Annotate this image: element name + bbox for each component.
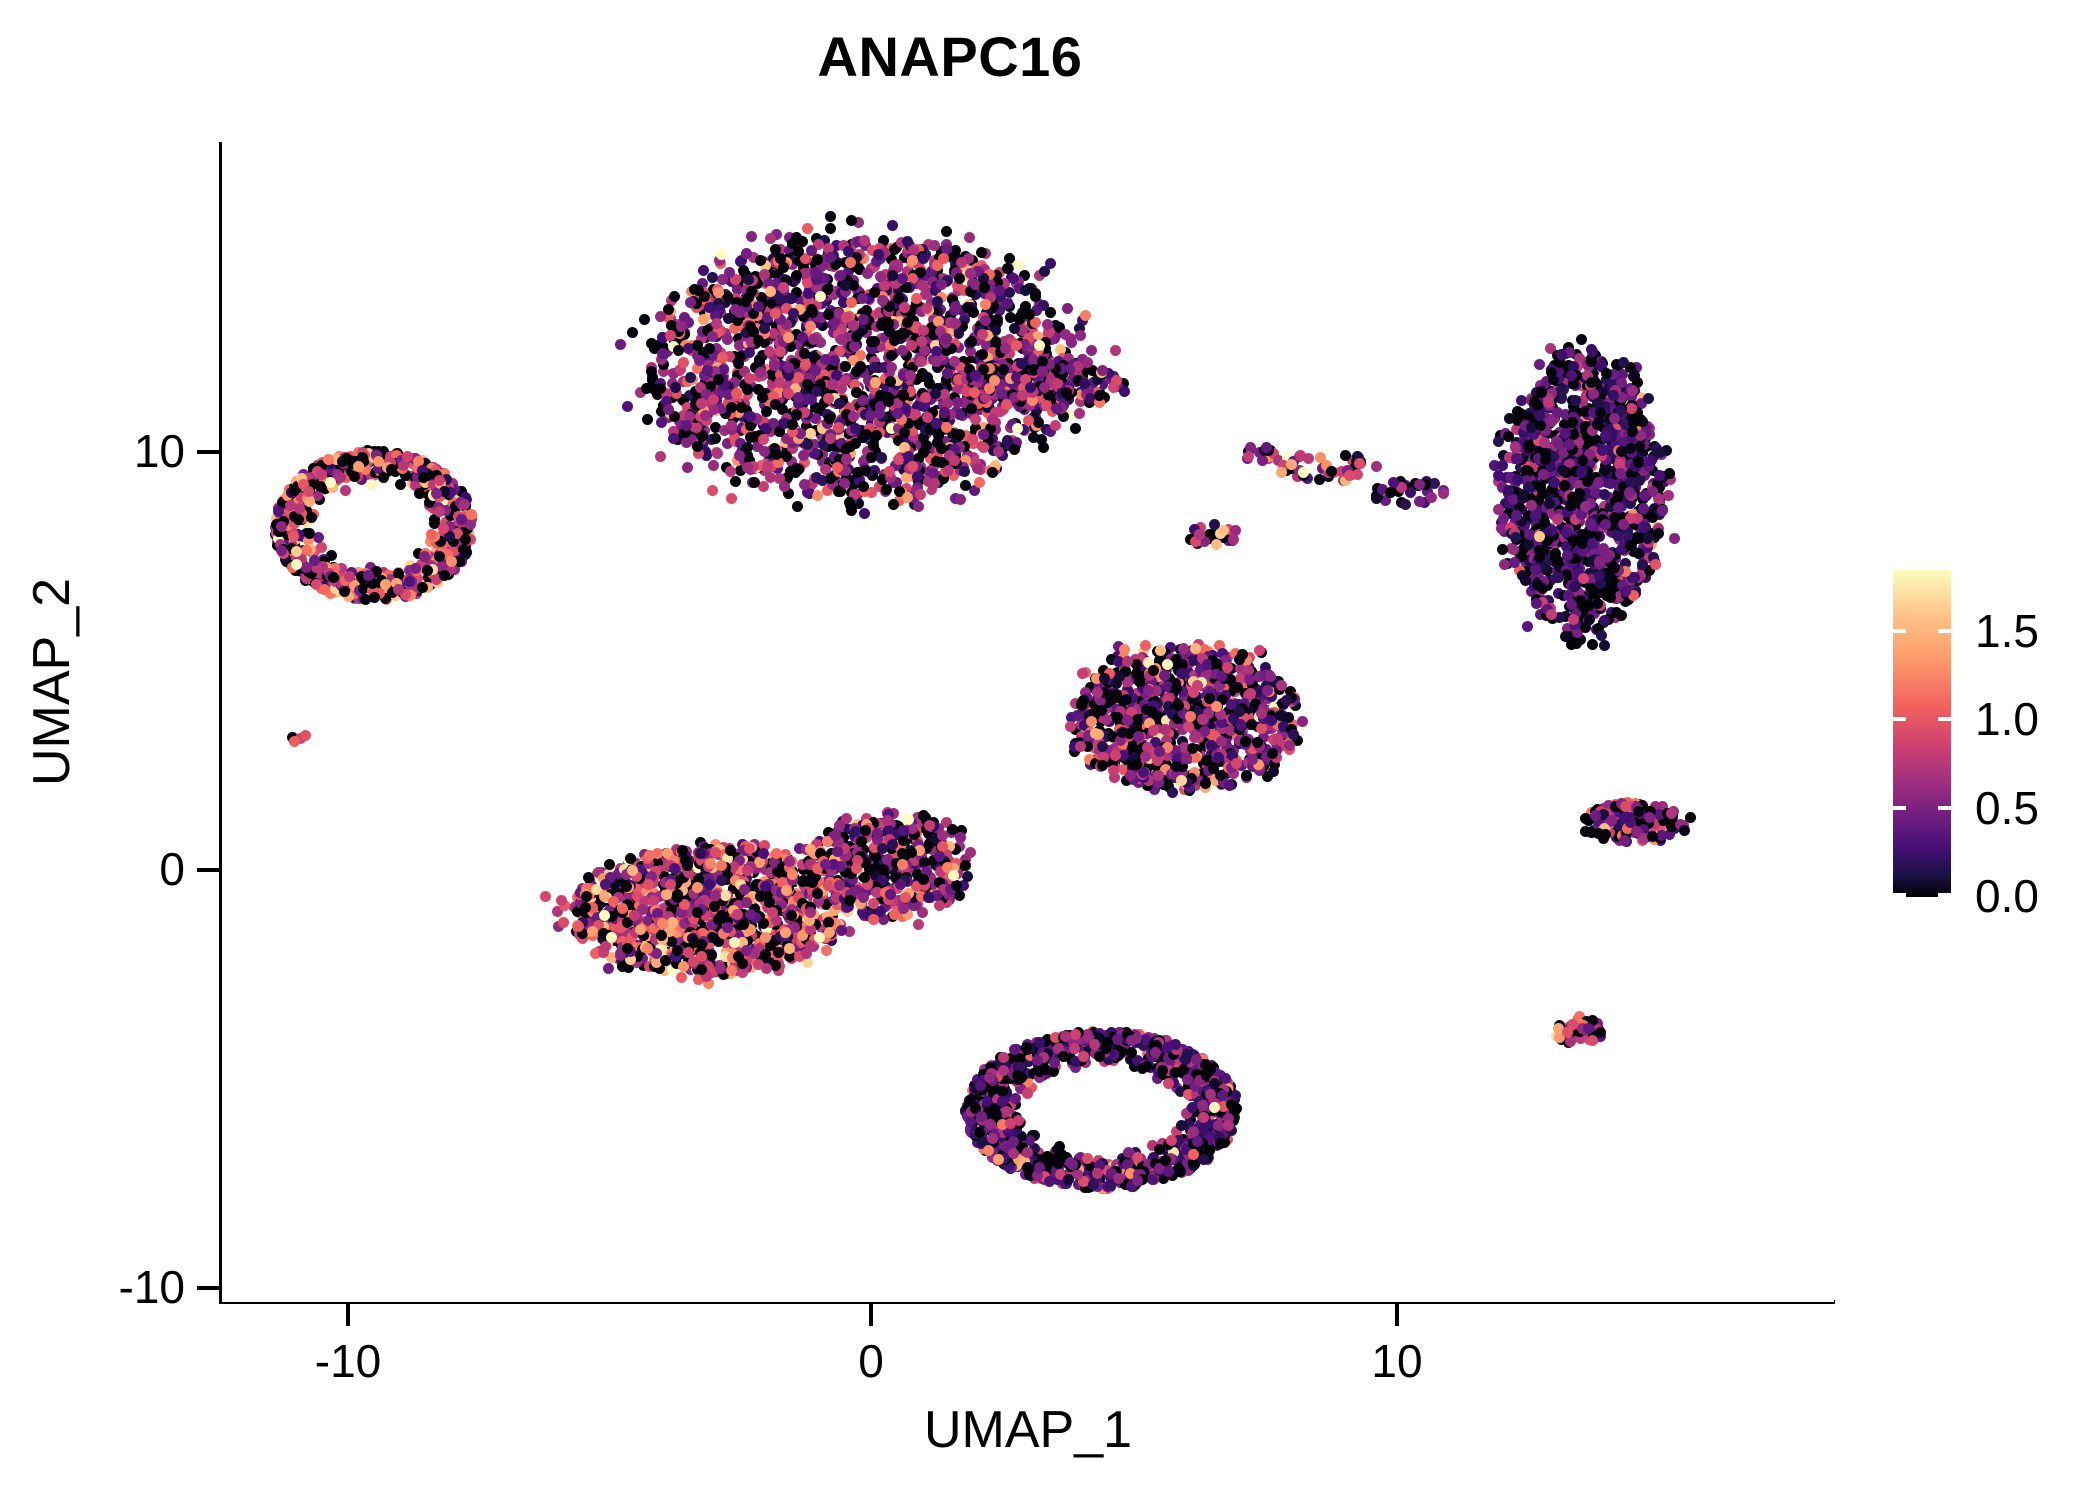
scatter-point [808,334,819,345]
scatter-point [802,379,813,390]
scatter-point [1618,357,1629,368]
scatter-point [889,335,900,346]
scatter-point [749,477,760,488]
scatter-point [1620,586,1631,597]
scatter-point [1497,544,1508,555]
scatter-point [742,384,753,395]
scatter-point [743,292,754,303]
scatter-point [868,440,879,451]
scatter-point [1523,440,1534,451]
scatter-point [1510,442,1521,453]
scatter-point [1140,640,1151,651]
scatter-point [848,411,859,422]
scatter-point [694,355,705,366]
scatter-point [966,336,977,347]
scatter-point [1503,485,1514,496]
scatter-point [970,414,981,425]
scatter-point [360,594,371,605]
scatter-point [859,508,870,519]
scatter-point [1599,615,1610,626]
scatter-point [1669,533,1680,544]
scatter-point [810,365,821,376]
scatter-point [1597,445,1608,456]
scatter-point [366,479,377,490]
scatter-point [987,467,998,478]
scatter-point [1546,609,1557,620]
scatter-point [1534,410,1545,421]
scatter-point [967,434,978,445]
scatter-point [836,334,847,345]
scatter-point [832,462,843,473]
scatter-point [1536,387,1547,398]
scatter-point [1601,368,1612,379]
scatter-point [1155,645,1166,656]
scatter-point [846,297,857,308]
scatter-point [954,429,965,440]
scatter-point [974,477,985,488]
scatter-point [466,509,477,520]
scatter-point [844,497,855,508]
scatter-point [787,419,798,430]
scatter-point [1042,319,1053,330]
scatter-point [1024,309,1035,320]
scatter-point [431,488,442,499]
scatter-point [303,486,314,497]
scatter-point [1045,258,1056,269]
scatter-point [953,328,964,339]
scatter-point [439,570,450,581]
scatter-point [465,519,476,530]
scatter-point [669,291,680,302]
scatter-point [978,429,989,440]
scatter-point [1587,346,1598,357]
scatter-point [1566,599,1577,610]
scatter-point [713,287,724,298]
scatter-point [779,481,790,492]
scatter-point [1639,490,1650,501]
scatter-point [846,215,857,226]
scatter-point [758,434,769,445]
scatter-point [293,514,304,525]
scatter-point [1543,397,1554,408]
scatter-point [939,407,950,418]
scatter-point [1566,370,1577,381]
scatter-point [276,521,287,532]
page-title: ANAPC16 [0,24,1900,89]
scatter-point [373,456,384,467]
scatter-point [886,350,897,361]
scatter-point [1624,487,1635,498]
scatter-point [805,428,816,439]
scatter-point [866,336,877,347]
scatter-point [1534,359,1545,370]
scatter-point [1532,400,1543,411]
scatter-point [906,340,917,351]
scatter-point [685,297,696,308]
scatter-point [639,314,650,325]
scatter-point [1557,465,1568,476]
scatter-point [1626,403,1637,414]
scatter-point [1663,490,1674,501]
scatter-point [676,321,687,332]
scatter-point [970,370,981,381]
scatter-point [823,309,834,320]
scatter-point [1075,330,1086,341]
scatter-point [1000,343,1011,354]
scatter-point [765,233,776,244]
scatter-point [341,453,352,464]
scatter-point [862,268,873,279]
scatter-point [650,340,661,351]
scatter-point [1086,345,1097,356]
scatter-point [899,328,910,339]
scatter-point [972,463,983,474]
scatter-point [656,417,667,428]
scatter-point [1654,447,1665,458]
scatter-point [395,479,406,490]
scatter-point [1580,501,1591,512]
scatter-point [716,249,727,260]
scatter-point [622,401,633,412]
scatter-point [673,345,684,356]
scatter-point [1540,454,1551,465]
scatter-point [300,730,311,741]
scatter-point [682,462,693,473]
scatter-point [646,366,657,377]
scatter-point [615,339,626,350]
scatter-point [887,220,898,231]
scatter-point [884,466,895,477]
scatter-point [363,570,374,581]
scatter-point [770,399,781,410]
scatter-point [936,279,947,290]
scatter-point [1524,529,1535,540]
scatter-point [291,546,302,557]
scatter-point [1002,263,1013,274]
scatter-point [1012,423,1023,434]
scatter-point [717,352,728,363]
scatter-point [1523,539,1534,550]
scatter-point [743,274,754,285]
scatter-point [418,472,429,483]
scatter-point [393,584,404,595]
scatter-point [1650,559,1661,570]
scatter-point [733,358,744,369]
scatter-point [916,356,927,367]
scatter-point [1657,505,1668,516]
scatter-point [1499,559,1510,570]
scatter-point [458,544,469,555]
scatter-point [410,563,421,574]
scatter-point [340,485,351,496]
scatter-point [1615,468,1626,479]
scatter-point [918,253,929,264]
scatter-point [1522,621,1533,632]
scatter-point [1535,420,1546,431]
scatter-point [1556,349,1567,360]
scatter-point [902,492,913,503]
scatter-point [905,370,916,381]
scatter-point [707,272,718,283]
scatter-point [404,576,415,587]
scatter-point [1530,564,1541,575]
scatter-point [1538,469,1549,480]
scatter-point [869,362,880,373]
scatter-point [938,253,949,264]
scatter-point [841,312,852,323]
scatter-point [1612,530,1623,541]
scatter-point [696,398,707,409]
scatter-point [422,565,433,576]
scatter-point [1493,504,1504,515]
scatter-point [1577,455,1588,466]
scatter-point [459,499,470,510]
scatter-point [685,372,696,383]
scatter-point [873,249,884,260]
scatter-point [960,480,971,491]
scatter-point [1023,415,1034,426]
scatter-point [1576,334,1587,345]
scatter-point [1549,477,1560,488]
scatter-point [1599,465,1610,476]
scatter-point [642,414,653,425]
scatter-point [1037,366,1048,377]
scatter-point [1552,514,1563,525]
scatter-point [871,430,882,441]
scatter-point [793,464,804,475]
scatter-point [339,586,350,597]
scatter-point [1642,533,1653,544]
scatter-point [966,403,977,414]
scatter-point [1512,453,1523,464]
scatter-point [812,490,823,501]
scatter-point [722,334,733,345]
scatter-point [1531,598,1542,609]
scatter-point [1534,531,1545,542]
scatter-point [1593,477,1604,488]
scatter-layer [222,142,1834,1302]
scatter-point [746,231,757,242]
scatter-point [1051,403,1062,414]
scatter-point [1559,480,1570,491]
scatter-point [1632,533,1643,544]
scatter-point [1119,386,1130,397]
scatter-point [1639,522,1650,533]
scatter-point [775,346,786,357]
scatter-point [849,341,860,352]
scatter-point [876,320,887,331]
plot-panel [222,142,1834,1302]
scatter-point [1592,398,1603,409]
scatter-point [885,376,896,387]
scatter-point [835,270,846,281]
scatter-point [850,438,861,449]
scatter-point [759,323,770,334]
scatter-point [1544,498,1555,509]
scatter-point [883,392,894,403]
scatter-point [734,450,745,461]
scatter-point [1074,408,1085,419]
scatter-point [704,302,715,313]
scatter-point [866,452,877,463]
scatter-point [1011,340,1022,351]
scatter-point [1613,502,1624,513]
scatter-point [994,285,1005,296]
scatter-point [917,371,928,382]
scatter-point [710,433,721,444]
scatter-point [1577,529,1588,540]
scatter-point [898,390,909,401]
scatter-point [792,501,803,512]
scatter-point [812,254,823,265]
scatter-point [753,301,764,312]
scatter-point [1618,519,1629,530]
scatter-point [304,528,315,539]
scatter-point [950,301,961,312]
scatter-point [1628,417,1639,428]
scatter-point [955,494,966,505]
scatter-point [886,362,897,373]
scatter-point [1079,378,1090,389]
scatter-point [1599,489,1610,500]
scatter-point [349,471,360,482]
scatter-point [918,447,929,458]
scatter-point [941,226,952,237]
scatter-point [1016,358,1027,369]
scatter-point [708,460,719,471]
scatter-point [744,347,755,358]
scatter-point [811,386,822,397]
scatter-point [770,308,781,319]
scatter-point [978,442,989,453]
scatter-point [888,499,899,510]
scatter-point [977,349,988,360]
scatter-point [764,346,775,357]
scatter-point [807,307,818,318]
scatter-point [319,584,330,595]
scatter-point [802,439,813,450]
scatter-point [851,366,862,377]
scatter-point [858,314,869,325]
scatter-point [911,293,922,304]
scatter-point [707,485,718,496]
scatter-point [1070,423,1081,434]
scatter-point [434,551,445,562]
scatter-point [655,451,666,462]
scatter-point [1587,639,1598,650]
scatter-point [1503,431,1514,442]
scatter-point [932,296,943,307]
scatter-point [1560,428,1571,439]
scatter-point [754,355,765,366]
scatter-point [931,346,942,357]
scatter-point [692,441,703,452]
scatter-point [1546,416,1557,427]
scatter-point [913,501,924,512]
scatter-point [1030,288,1041,299]
scatter-point [1653,528,1664,539]
scatter-point [1574,488,1585,499]
scatter-point [742,462,753,473]
scatter-point [798,450,809,461]
scatter-point [1587,538,1598,549]
scatter-point [426,529,437,540]
scatter-point [335,472,346,483]
scatter-point [1297,716,1308,727]
scatter-point [306,512,317,523]
scatter-point [1664,468,1675,479]
scatter-point [827,379,838,390]
scatter-point [700,410,711,421]
scatter-point [1020,285,1031,296]
scatter-point [745,411,756,422]
scatter-point [1512,474,1523,485]
scatter-point [456,514,467,525]
scatter-point [289,736,300,747]
scatter-point [825,211,836,222]
scatter-point [1586,377,1597,388]
scatter-point [931,356,942,367]
scatter-point [1062,303,1073,314]
scatter-point [1009,444,1020,455]
scatter-point [802,223,813,234]
scatter-point [915,489,926,500]
scatter-point [825,223,836,234]
scatter-point [434,506,445,517]
scatter-point [726,420,737,431]
scatter-point [1515,408,1526,419]
scatter-point [1560,631,1571,642]
scatter-point [369,592,380,603]
scatter-point [328,572,339,583]
scatter-point [1080,310,1091,321]
scatter-point [876,452,887,463]
scatter-point [1001,399,1012,410]
scatter-point [1609,413,1620,424]
scatter-point [841,454,852,465]
scatter-point [825,252,836,263]
scatter-point [1110,345,1121,356]
scatter-point [1592,419,1603,430]
scatter-point [304,496,315,507]
scatter-point [1038,442,1049,453]
scatter-point [799,479,810,490]
scatter-point [1600,519,1611,530]
scatter-point [1539,437,1550,448]
scatter-point [678,357,689,368]
scatter-point [954,273,965,284]
scatter-point [712,448,723,459]
scatter-point [663,404,674,415]
scatter-point [1050,420,1061,431]
scatter-point [691,422,702,433]
scatter-point [992,314,1003,325]
scatter-point [840,361,851,372]
scatter-point [745,432,756,443]
scatter-point [753,335,764,346]
scatter-point [1569,581,1580,592]
scatter-point [775,294,786,305]
scatter-point [1094,390,1105,401]
scatter-point [1065,721,1076,732]
scatter-point [833,486,844,497]
scatter-point [912,471,923,482]
scatter-point [892,408,903,419]
scatter-point [887,270,898,281]
scatter-point [627,327,638,338]
scatter-point [987,414,998,425]
scatter-point [1564,439,1575,450]
